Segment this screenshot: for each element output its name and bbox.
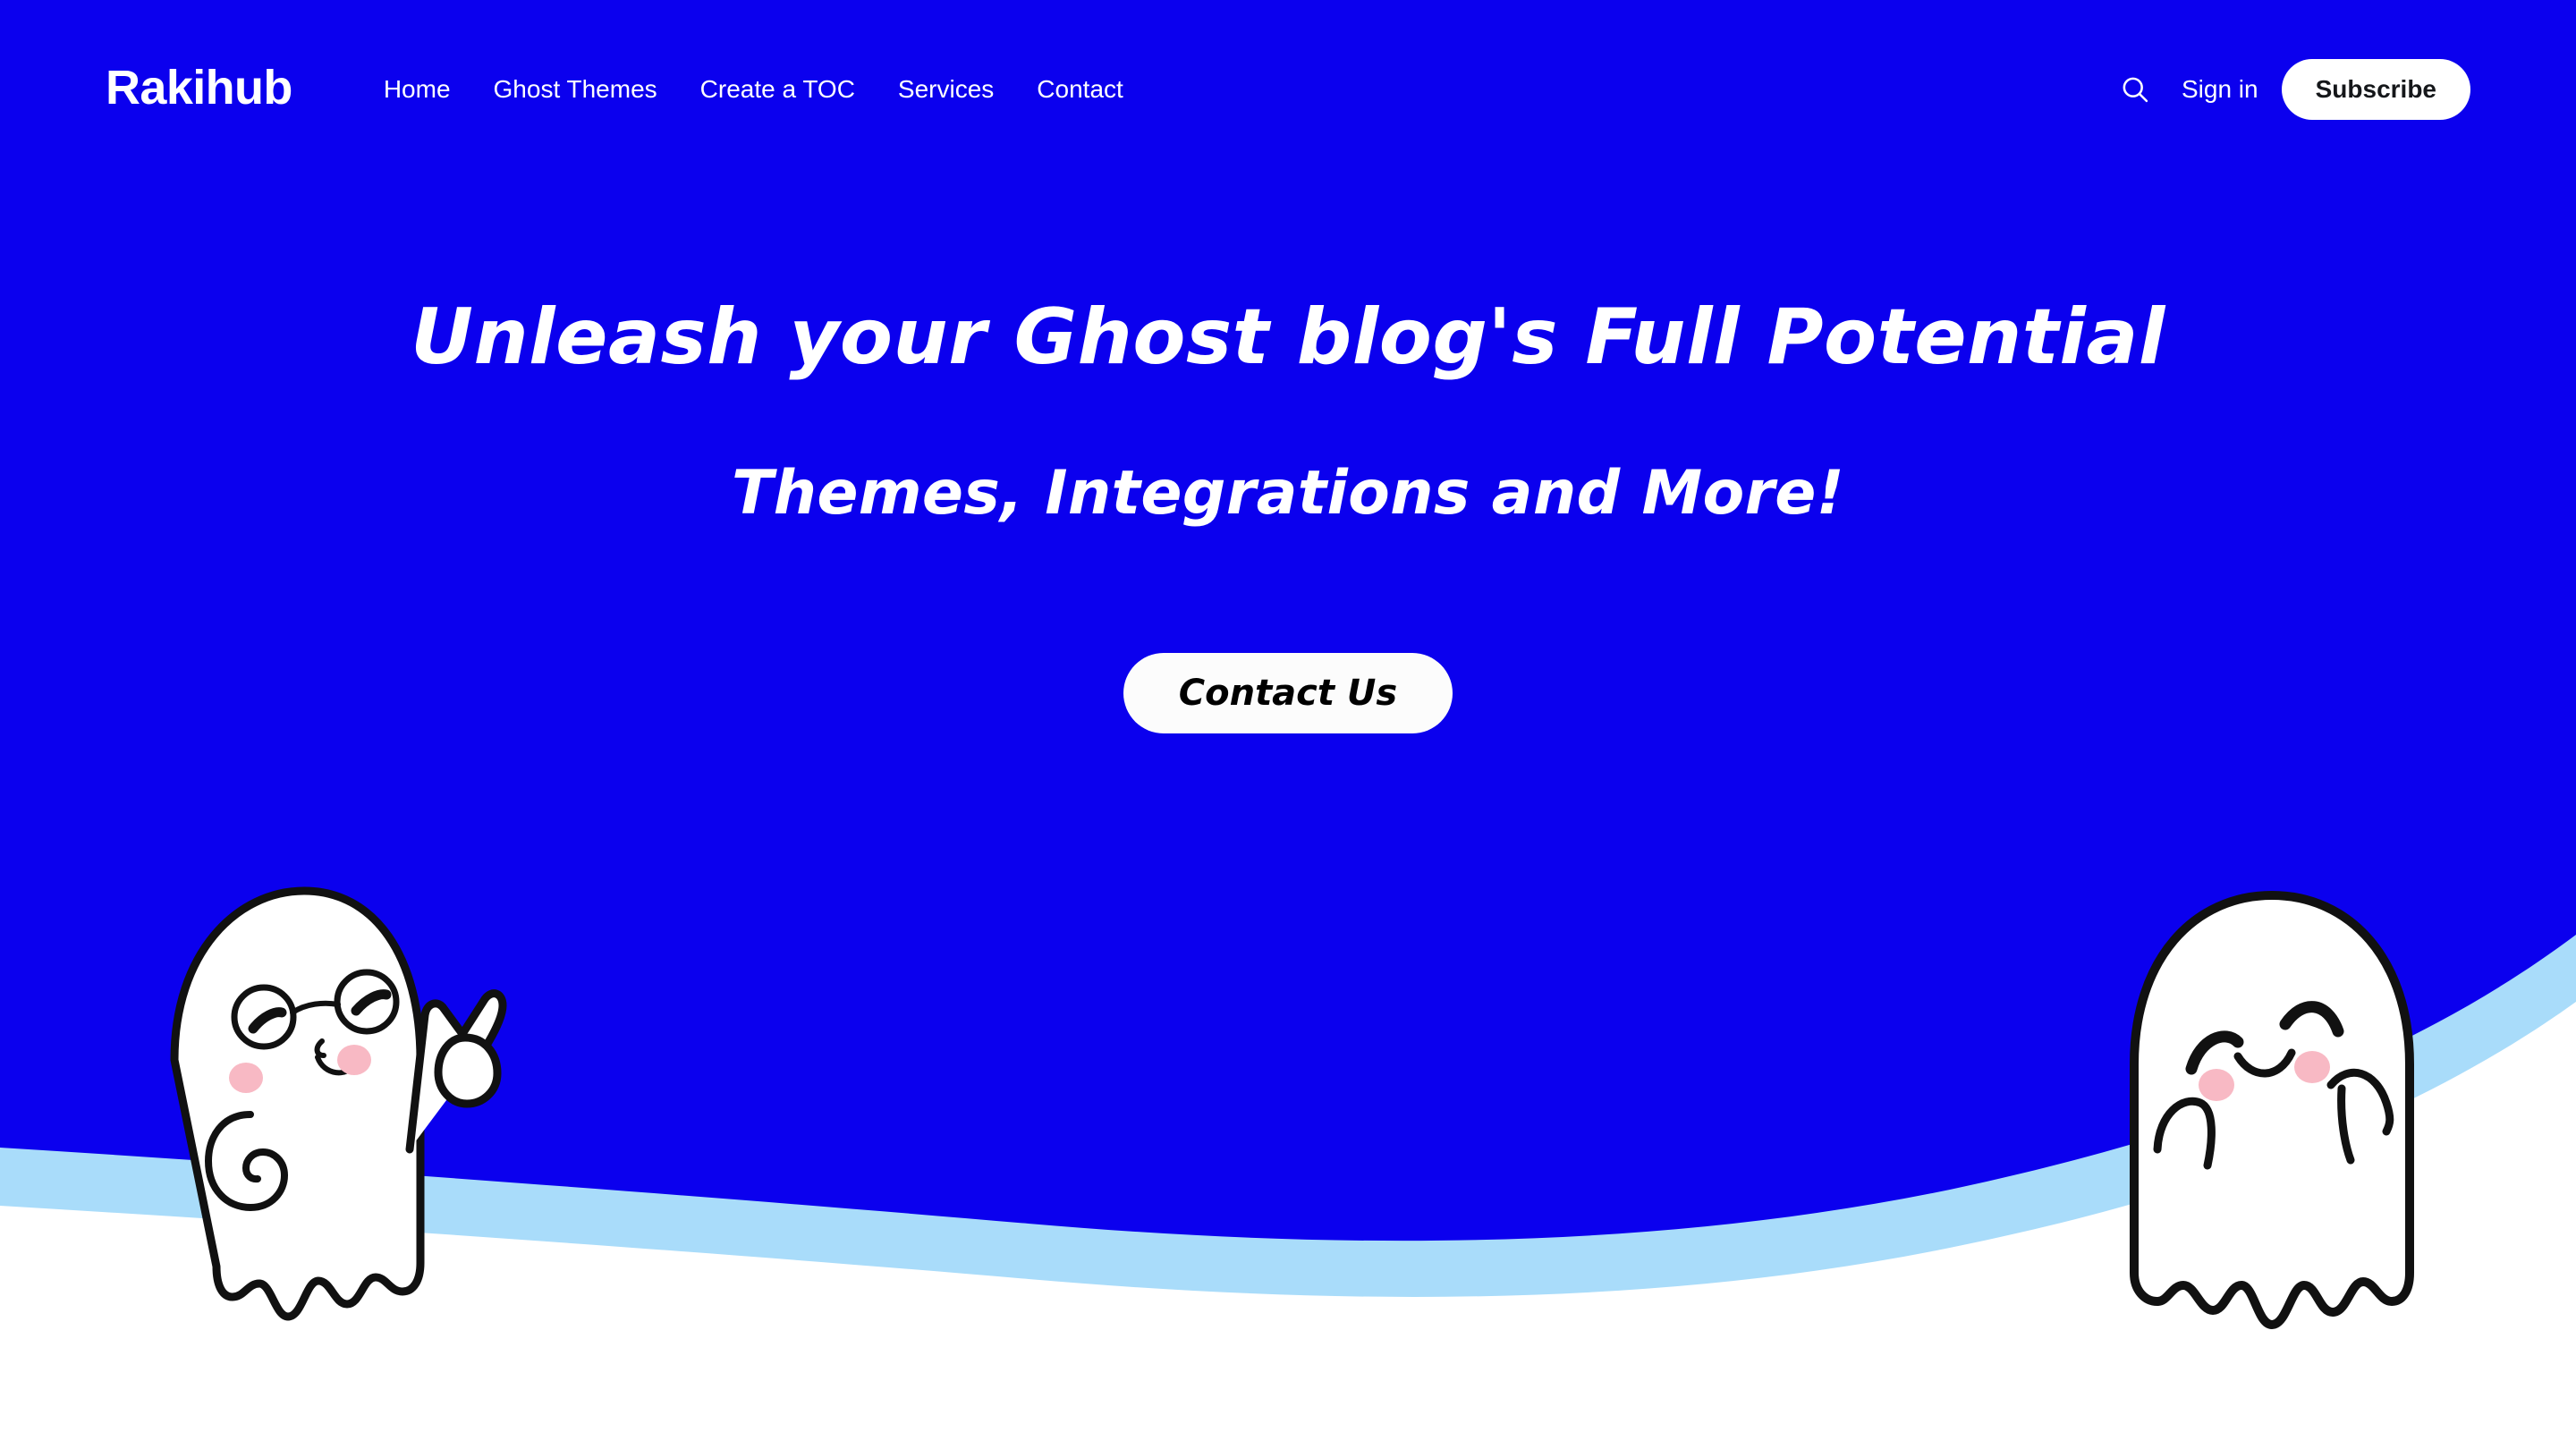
nav-item-home[interactable]: Home (362, 77, 472, 102)
ghost-right-cheek-right (2294, 1051, 2330, 1083)
search-button[interactable] (2108, 63, 2162, 116)
nav-item-services[interactable]: Services (877, 77, 1015, 102)
ghost-left-body (174, 891, 420, 1317)
hero-title: Unleash your Ghost blog's Full Potential (0, 295, 2576, 380)
subscribe-button[interactable]: Subscribe (2282, 59, 2470, 120)
nav-item-contact[interactable]: Contact (1015, 77, 1145, 102)
nav-item-create-a-toc[interactable]: Create a TOC (679, 77, 877, 102)
ghost-left-illustration (152, 877, 510, 1364)
ghost-right-cheek-left (2199, 1069, 2234, 1101)
hero-subtitle: Themes, Integrations and More! (0, 457, 2576, 530)
hero-section: Rakihub Home Ghost Themes Create a TOC S… (0, 0, 2576, 1449)
brand-logo[interactable]: Rakihub (106, 64, 292, 112)
sign-in-link[interactable]: Sign in (2182, 77, 2258, 102)
site-header: Rakihub Home Ghost Themes Create a TOC S… (0, 0, 2576, 179)
nav-item-ghost-themes[interactable]: Ghost Themes (472, 77, 679, 102)
ghost-left-cheek-right (337, 1045, 371, 1075)
primary-navigation: Home Ghost Themes Create a TOC Services … (362, 77, 1145, 102)
ghost-left-cheek-left (229, 1063, 263, 1093)
contact-us-button[interactable]: Contact Us (1123, 653, 1453, 733)
header-actions: Sign in Subscribe (2108, 59, 2470, 120)
ghost-right-illustration (2102, 881, 2442, 1364)
ghost-left-hand (438, 1038, 497, 1104)
hero-cta-row: Contact Us (0, 653, 2576, 733)
search-icon (2119, 73, 2151, 106)
